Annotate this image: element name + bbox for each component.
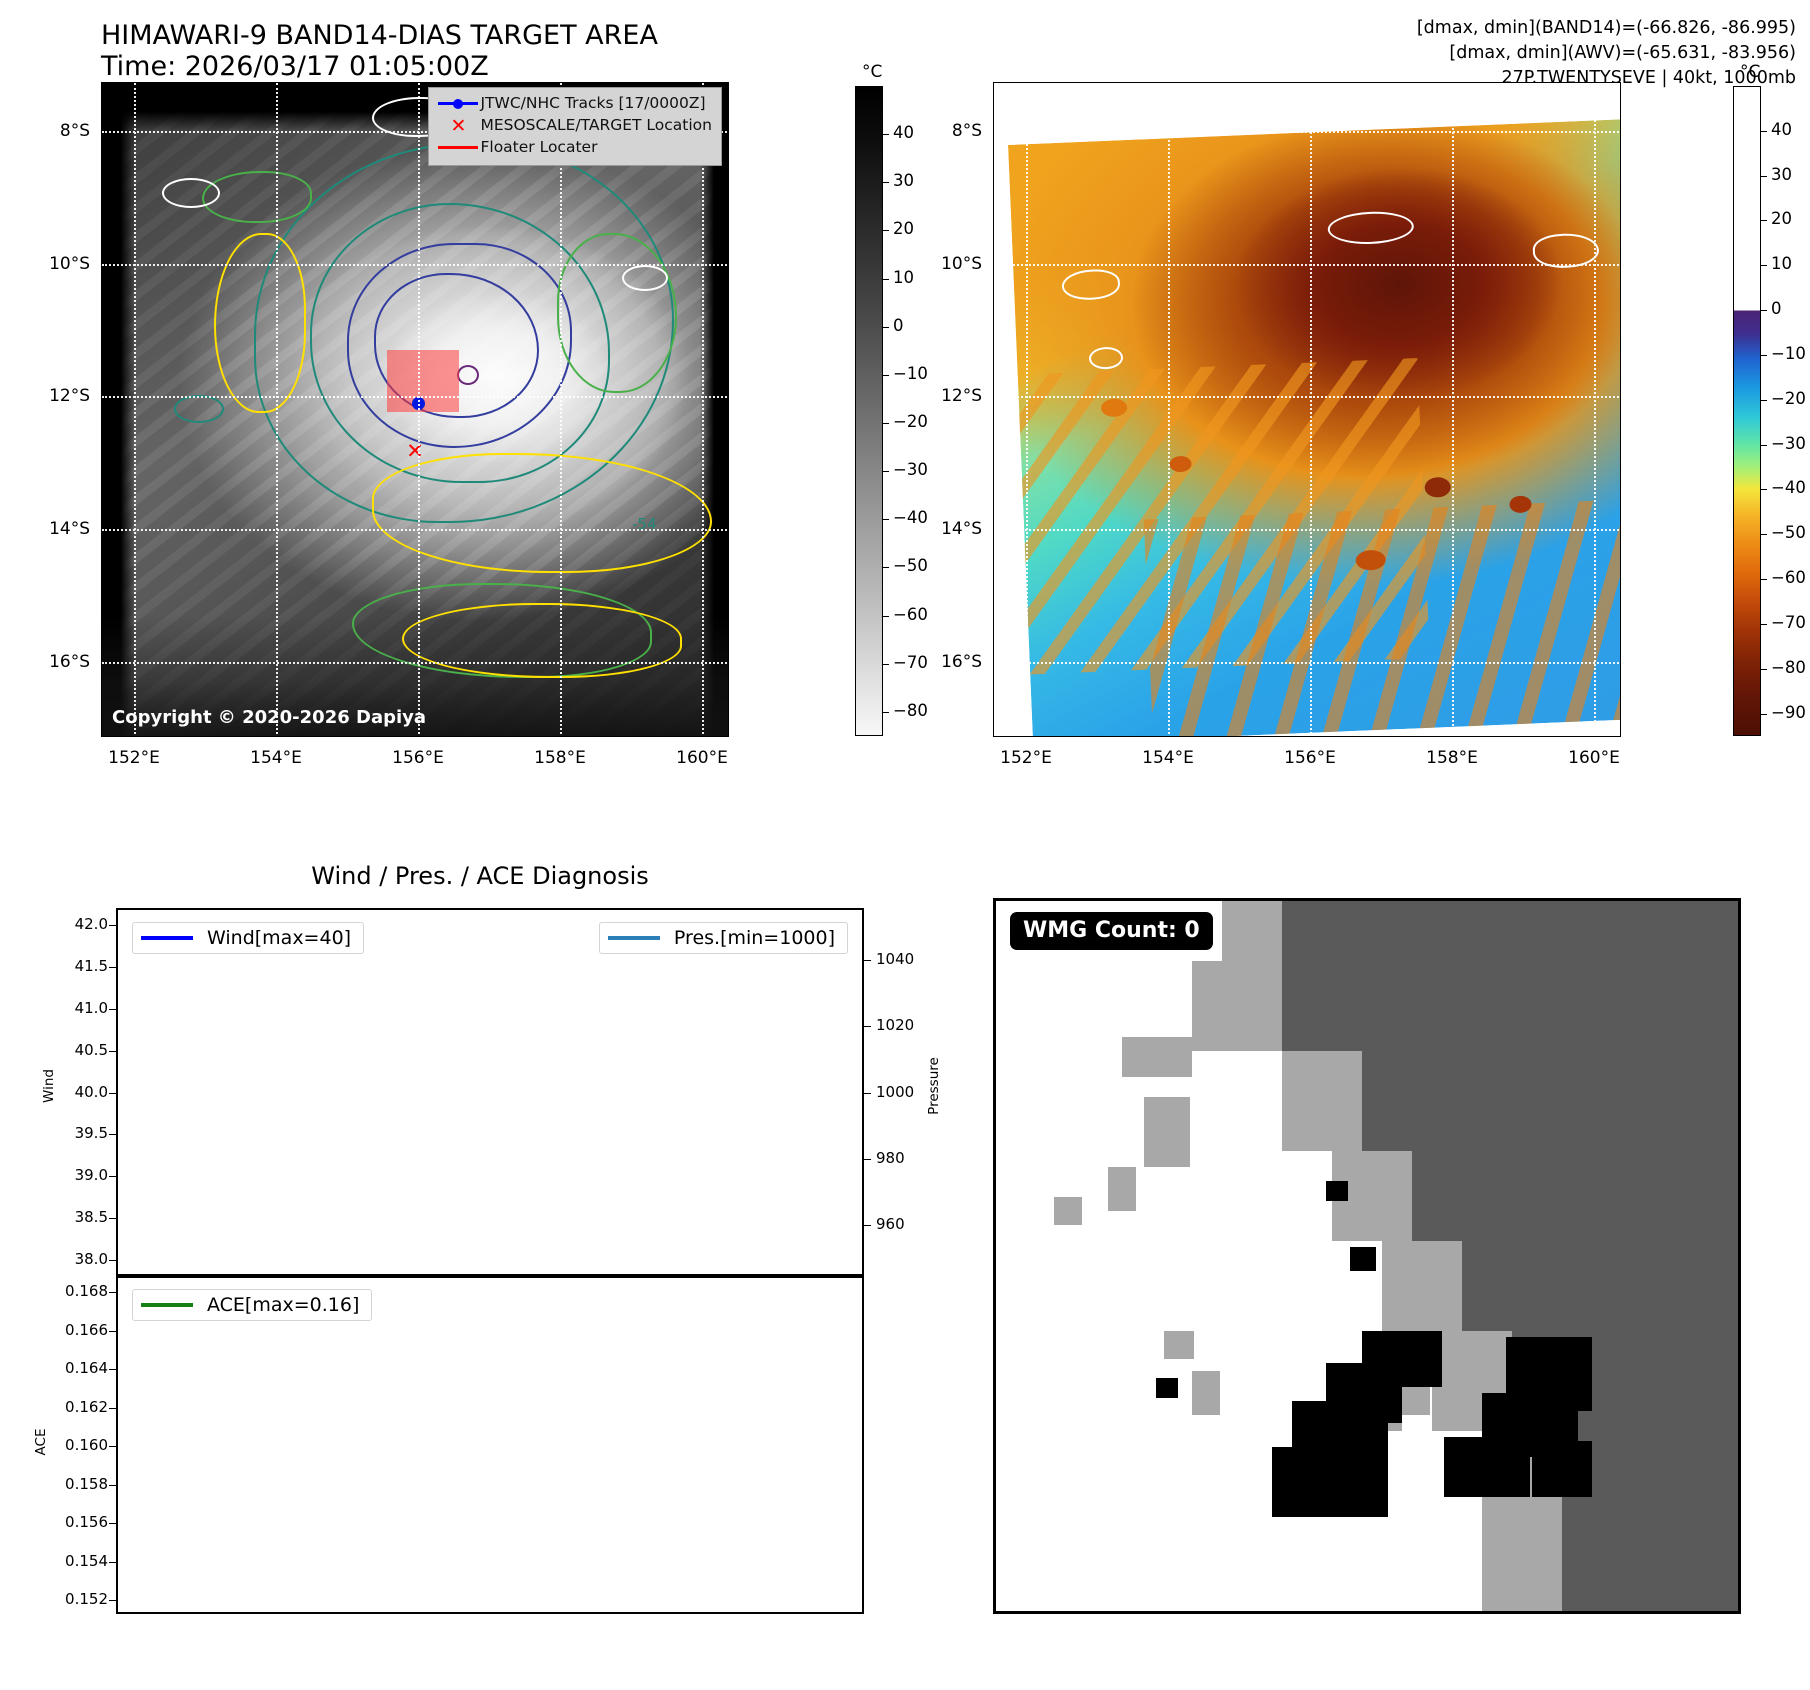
wmg-region-gray-4 xyxy=(1382,1241,1462,1331)
x-marker-icon: ✕ xyxy=(436,117,480,136)
awv-satellite-panel[interactable] xyxy=(993,82,1621,737)
ir-colorbar-tick-mark xyxy=(883,712,889,713)
awv-lon-label-156e: 156°E xyxy=(1274,748,1346,768)
ir-lat-label-16s: 16°S xyxy=(20,652,90,672)
ir-colorbar-tick-mark xyxy=(883,423,889,424)
ir-colorbar-tick-mark xyxy=(883,327,889,328)
ir-colorbar-tick-mark xyxy=(883,664,889,665)
awv-lat-label-14s: 14°S xyxy=(912,519,982,539)
wind-pressure-plot[interactable]: Wind[max=40] Pres.[min=1000] xyxy=(116,908,864,1276)
wind-y-tick-mark xyxy=(109,967,116,968)
awv-colorbar-tick-label: 20 xyxy=(1771,209,1792,228)
ace-y-tick-label: 0.160 xyxy=(38,1436,108,1454)
ir-colorbar-tick-mark xyxy=(883,230,889,231)
ir-lon-label-152e: 152°E xyxy=(98,748,170,768)
wind-legend-swatch xyxy=(141,936,193,940)
wmg-region-gray-11 xyxy=(1054,1197,1082,1225)
wind-y-tick-mark xyxy=(109,1176,116,1177)
wind-legend: Wind[max=40] xyxy=(132,922,364,954)
wind-y-tick-label: 41.5 xyxy=(38,957,108,975)
ace-legend-swatch xyxy=(141,1303,193,1307)
ace-y-tick-label: 0.166 xyxy=(38,1321,108,1339)
awv-colorbar-tick-mark xyxy=(1761,579,1767,580)
ace-y-tick-mark xyxy=(109,1562,116,1563)
track-marker-icon xyxy=(436,96,480,112)
awv-colorbar-tick-mark xyxy=(1761,265,1767,266)
awv-lon-label-158e: 158°E xyxy=(1416,748,1488,768)
wmg-region-black-9 xyxy=(1532,1441,1592,1497)
pressure-y-tick-mark xyxy=(864,1026,871,1027)
pressure-y-tick-mark xyxy=(864,1159,871,1160)
ir-lat-label-10s: 10°S xyxy=(20,254,90,274)
page-subtitle-time: Time: 2026/03/17 01:05:00Z xyxy=(101,51,489,82)
awv-colorbar-tick-mark xyxy=(1761,176,1767,177)
awv-colorbar-tick-mark xyxy=(1761,489,1767,490)
wmg-region-black-10 xyxy=(1156,1378,1178,1398)
wmg-region-gray-13 xyxy=(1164,1331,1194,1359)
graticule-lat-14s xyxy=(102,529,729,531)
wind-y-tick-mark xyxy=(109,1051,116,1052)
awv-colorbar-tick-label: −10 xyxy=(1771,344,1806,363)
wind-y-tick-mark xyxy=(109,1134,116,1135)
awv-graticule-lon-152e xyxy=(1026,83,1028,737)
coastline-outline-3 xyxy=(622,265,668,291)
pressure-y-tick-mark xyxy=(864,1225,871,1226)
awv-colorbar xyxy=(1733,86,1761,736)
legend-label-floater: Floater Locater xyxy=(480,140,597,156)
ace-y-tick-mark xyxy=(109,1369,116,1370)
legend-item-floater: Floater Locater xyxy=(436,137,712,159)
graticule-lon-154e xyxy=(276,83,278,737)
contour-ring-eye xyxy=(457,365,479,385)
pressure-y-tick-label: 980 xyxy=(876,1149,946,1167)
ace-y-tick-label: 0.152 xyxy=(38,1590,108,1608)
wmg-count-badge: WMG Count: 0 xyxy=(1010,912,1213,950)
ir-colorbar-tick-label: −80 xyxy=(893,701,928,720)
awv-colorbar-tick-mark xyxy=(1761,445,1767,446)
awv-graticule-lat-14s xyxy=(994,529,1621,531)
wmg-region-black-11 xyxy=(1326,1181,1348,1201)
legend-label-target: MESOSCALE/TARGET Location xyxy=(480,118,712,134)
awv-graticule-lon-160e xyxy=(1594,83,1596,737)
ir-image: -54 ✕ xyxy=(102,83,728,736)
awv-graticule-lon-158e xyxy=(1452,83,1454,737)
contour-ring-yellow xyxy=(214,233,306,413)
pressure-y-tick-label: 960 xyxy=(876,1215,946,1233)
graticule-lon-158e xyxy=(560,83,562,737)
awv-lon-label-152e: 152°E xyxy=(990,748,1062,768)
ace-y-tick-mark xyxy=(109,1292,116,1293)
ace-plot[interactable]: ACE[max=0.16] xyxy=(116,1276,864,1614)
awv-lat-label-16s: 16°S xyxy=(912,652,982,672)
pressure-y-tick-mark xyxy=(864,960,871,961)
wmg-region-gray-10 xyxy=(1144,1097,1190,1167)
wind-y-tick-label: 42.0 xyxy=(38,915,108,933)
ace-y-tick-label: 0.162 xyxy=(38,1398,108,1416)
ir-colorbar-tick-mark xyxy=(883,279,889,280)
wmg-region-black xyxy=(1350,1247,1376,1271)
ir-lon-label-160e: 160°E xyxy=(666,748,738,768)
wind-y-tick-label: 40.5 xyxy=(38,1041,108,1059)
ir-colorbar-tick-label: 20 xyxy=(893,219,914,238)
wmg-region-darkgray-3 xyxy=(1412,1151,1738,1241)
wmg-region-gray-14 xyxy=(1192,1371,1220,1415)
dashboard-root: HIMAWARI-9 BAND14-DIAS TARGET AREA Time:… xyxy=(0,0,1810,1690)
wmg-region-gray-8 xyxy=(1122,1037,1192,1077)
wmg-region-black-5 xyxy=(1272,1447,1388,1517)
pressure-y-tick-mark xyxy=(864,1093,871,1094)
wind-y-tick-label: 39.5 xyxy=(38,1124,108,1142)
awv-image xyxy=(994,83,1620,736)
legend-item-target: ✕ MESOSCALE/TARGET Location xyxy=(436,115,712,137)
ir-lat-label-8s: 8°S xyxy=(20,121,90,141)
awv-colorbar-tick-label: −50 xyxy=(1771,523,1806,542)
ace-y-tick-mark xyxy=(109,1600,116,1601)
awv-colorbar-tick-mark xyxy=(1761,714,1767,715)
legend-item-tracks: JTWC/NHC Tracks [17/0000Z] xyxy=(436,93,712,115)
ir-colorbar-tick-label: 40 xyxy=(893,123,914,142)
ace-y-tick-label: 0.158 xyxy=(38,1475,108,1493)
wmg-region-gray-9 xyxy=(1192,961,1252,1001)
ace-y-tick-label: 0.156 xyxy=(38,1513,108,1531)
wmg-region-gray-2 xyxy=(1282,1051,1362,1151)
coastline-outline xyxy=(162,178,220,208)
awv-graticule-lon-154e xyxy=(1168,83,1170,737)
graticule-lon-156e xyxy=(418,83,420,737)
wmg-region-darkgray-2 xyxy=(1362,1051,1738,1151)
wind-y-tick-label: 39.0 xyxy=(38,1166,108,1184)
ir-colorbar-unit: °C xyxy=(862,62,882,82)
wind-y-tick-label: 41.0 xyxy=(38,999,108,1017)
ir-lat-label-14s: 14°S xyxy=(20,519,90,539)
wind-y-tick-mark xyxy=(109,1218,116,1219)
awv-graticule-lat-10s xyxy=(994,264,1621,266)
ir-colorbar-tick-label: −30 xyxy=(893,460,928,479)
ir-colorbar xyxy=(855,86,883,736)
awv-lon-label-160e: 160°E xyxy=(1558,748,1630,768)
ace-y-tick-label: 0.168 xyxy=(38,1282,108,1300)
awv-colorbar-tick-mark xyxy=(1761,131,1767,132)
awv-graticule-lat-8s xyxy=(994,131,1621,133)
ace-y-tick-label: 0.164 xyxy=(38,1359,108,1377)
ir-colorbar-tick-mark xyxy=(883,616,889,617)
ir-colorbar-tick-label: 0 xyxy=(893,316,904,335)
line-marker-icon xyxy=(436,140,480,156)
ir-colorbar-tick-label: −20 xyxy=(893,412,928,431)
awv-graticule-lat-16s xyxy=(994,662,1621,664)
ir-colorbar-tick-mark xyxy=(883,567,889,568)
pressure-legend-label: Pres.[min=1000] xyxy=(674,927,835,949)
awv-colorbar-tick-label: −20 xyxy=(1771,389,1806,408)
contour-ring-teal-3 xyxy=(174,395,224,423)
page-title: HIMAWARI-9 BAND14-DIAS TARGET AREA xyxy=(101,20,658,51)
ir-colorbar-tick-label: 10 xyxy=(893,268,914,287)
ir-lon-label-154e: 154°E xyxy=(240,748,312,768)
ace-y-tick-mark xyxy=(109,1485,116,1486)
awv-colorbar-tick-mark xyxy=(1761,624,1767,625)
ir-legend-box: JTWC/NHC Tracks [17/0000Z] ✕ MESOSCALE/T… xyxy=(428,87,722,166)
awv-colorbar-tick-label: 30 xyxy=(1771,165,1792,184)
wind-legend-label: Wind[max=40] xyxy=(207,927,351,949)
mesoscale-target-marker[interactable]: ✕ xyxy=(405,441,425,461)
wind-y-tick-label: 38.5 xyxy=(38,1208,108,1226)
wind-y-tick-mark xyxy=(109,1093,116,1094)
awv-colorbar-tick-mark xyxy=(1761,534,1767,535)
pressure-legend: Pres.[min=1000] xyxy=(599,922,848,954)
diagnosis-title: Wind / Pres. / ACE Diagnosis xyxy=(100,862,860,890)
ir-satellite-panel[interactable]: -54 ✕ Copyright © 2020-2026 Dapiya xyxy=(101,82,729,737)
awv-colorbar-tick-label: −90 xyxy=(1771,703,1806,722)
ace-legend-label: ACE[max=0.16] xyxy=(207,1294,359,1316)
awv-graticule-lon-156e xyxy=(1310,83,1312,737)
awv-colorbar-tick-label: −60 xyxy=(1771,568,1806,587)
wmg-region-darkgray xyxy=(1282,901,1738,1051)
awv-colorbar-tick-mark xyxy=(1761,310,1767,311)
awv-lat-label-10s: 10°S xyxy=(912,254,982,274)
ir-colorbar-tick-label: −60 xyxy=(893,605,928,624)
awv-colorbar-unit: °C xyxy=(1740,62,1760,82)
wmg-panel[interactable]: WMG Count: 0 xyxy=(993,898,1741,1614)
wmg-region-black-8 xyxy=(1444,1437,1530,1497)
graticule-lat-12s xyxy=(102,396,729,398)
graticule-lat-16s xyxy=(102,662,729,664)
ir-colorbar-tick-mark xyxy=(883,471,889,472)
ir-lon-label-156e: 156°E xyxy=(382,748,454,768)
ace-y-tick-mark xyxy=(109,1331,116,1332)
dmax-dmin-band14: [dmax, dmin](BAND14)=(-66.826, -86.995) xyxy=(1417,16,1796,41)
ace-y-tick-mark xyxy=(109,1523,116,1524)
graticule-lat-10s xyxy=(102,264,729,266)
pressure-legend-swatch xyxy=(608,936,660,940)
wmg-region-gray-12 xyxy=(1108,1167,1136,1211)
wind-y-tick-mark xyxy=(109,1260,116,1261)
pressure-y-tick-label: 1000 xyxy=(876,1083,946,1101)
legend-label-tracks: JTWC/NHC Tracks [17/0000Z] xyxy=(480,96,705,112)
ir-colorbar-tick-mark xyxy=(883,375,889,376)
ir-colorbar-tick-mark xyxy=(883,519,889,520)
awv-lat-label-12s: 12°S xyxy=(912,386,982,406)
wind-y-tick-mark xyxy=(109,1009,116,1010)
awv-colorbar-tick-label: −80 xyxy=(1771,658,1806,677)
graticule-lon-152e xyxy=(134,83,136,737)
ir-colorbar-tick-mark xyxy=(883,134,889,135)
ace-y-tick-mark xyxy=(109,1446,116,1447)
wmg-region-gray-7 xyxy=(1192,997,1282,1051)
ace-legend: ACE[max=0.16] xyxy=(132,1289,372,1321)
awv-colorbar-tick-label: 0 xyxy=(1771,299,1782,318)
graticule-lon-160e xyxy=(702,83,704,737)
awv-colorbar-tick-label: 10 xyxy=(1771,254,1792,273)
ir-lon-label-158e: 158°E xyxy=(524,748,596,768)
awv-lat-label-8s: 8°S xyxy=(912,121,982,141)
ace-y-tick-mark xyxy=(109,1408,116,1409)
awv-colorbar-tick-label: −70 xyxy=(1771,613,1806,632)
ir-colorbar-tick-label: −10 xyxy=(893,364,928,383)
awv-colorbar-tick-label: 40 xyxy=(1771,120,1792,139)
ir-lat-label-12s: 12°S xyxy=(20,386,90,406)
awv-colorbar-tick-label: −40 xyxy=(1771,478,1806,497)
pressure-y-tick-label: 1020 xyxy=(876,1016,946,1034)
wind-y-tick-label: 38.0 xyxy=(38,1250,108,1268)
awv-graticule-lat-12s xyxy=(994,396,1621,398)
awv-colorbar-tick-mark xyxy=(1761,355,1767,356)
ace-y-tick-label: 0.154 xyxy=(38,1552,108,1570)
wind-y-tick-mark xyxy=(109,925,116,926)
awv-colorbar-tick-mark xyxy=(1761,669,1767,670)
wmg-region-darkgray-4 xyxy=(1462,1241,1738,1331)
awv-lon-label-154e: 154°E xyxy=(1132,748,1204,768)
awv-colorbar-tick-mark xyxy=(1761,400,1767,401)
awv-colorbar-tick-mark xyxy=(1761,220,1767,221)
ir-colorbar-tick-mark xyxy=(883,182,889,183)
pressure-y-tick-label: 1040 xyxy=(876,950,946,968)
awv-colorbar-tick-label: −30 xyxy=(1771,434,1806,453)
ir-colorbar-tick-label: −50 xyxy=(893,556,928,575)
ir-colorbar-tick-label: 30 xyxy=(893,171,914,190)
copyright-notice: Copyright © 2020-2026 Dapiya xyxy=(112,707,426,728)
wind-y-tick-label: 40.0 xyxy=(38,1083,108,1101)
